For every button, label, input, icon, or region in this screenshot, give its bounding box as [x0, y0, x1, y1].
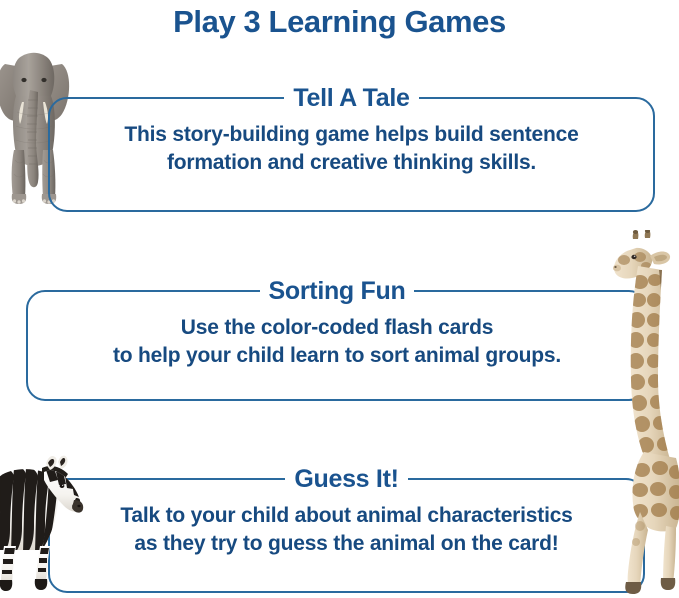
card-title: Guess It! — [285, 463, 407, 496]
card-title: Tell A Tale — [284, 82, 418, 115]
card-description: This story-building game helps build sen… — [50, 121, 653, 177]
page-title: Play 3 Learning Games — [0, 2, 679, 42]
card-description: Use the color-coded flash cards to help … — [28, 314, 646, 370]
card-sorting-fun: Sorting Fun Use the color-coded flash ca… — [26, 290, 648, 401]
card-header-tell-a-tale: Tell A Tale — [50, 82, 653, 115]
card-header-guess-it: Guess It! — [50, 463, 643, 496]
card-description: Talk to your child about animal characte… — [50, 502, 643, 558]
card-title: Sorting Fun — [260, 275, 415, 308]
card-tell-a-tale: Tell A Tale This story-building game hel… — [48, 97, 655, 212]
infographic-canvas: Play 3 Learning Games — [0, 0, 679, 598]
card-header-sorting-fun: Sorting Fun — [28, 275, 646, 308]
card-guess-it: Guess It! Talk to your child about anima… — [48, 478, 645, 593]
